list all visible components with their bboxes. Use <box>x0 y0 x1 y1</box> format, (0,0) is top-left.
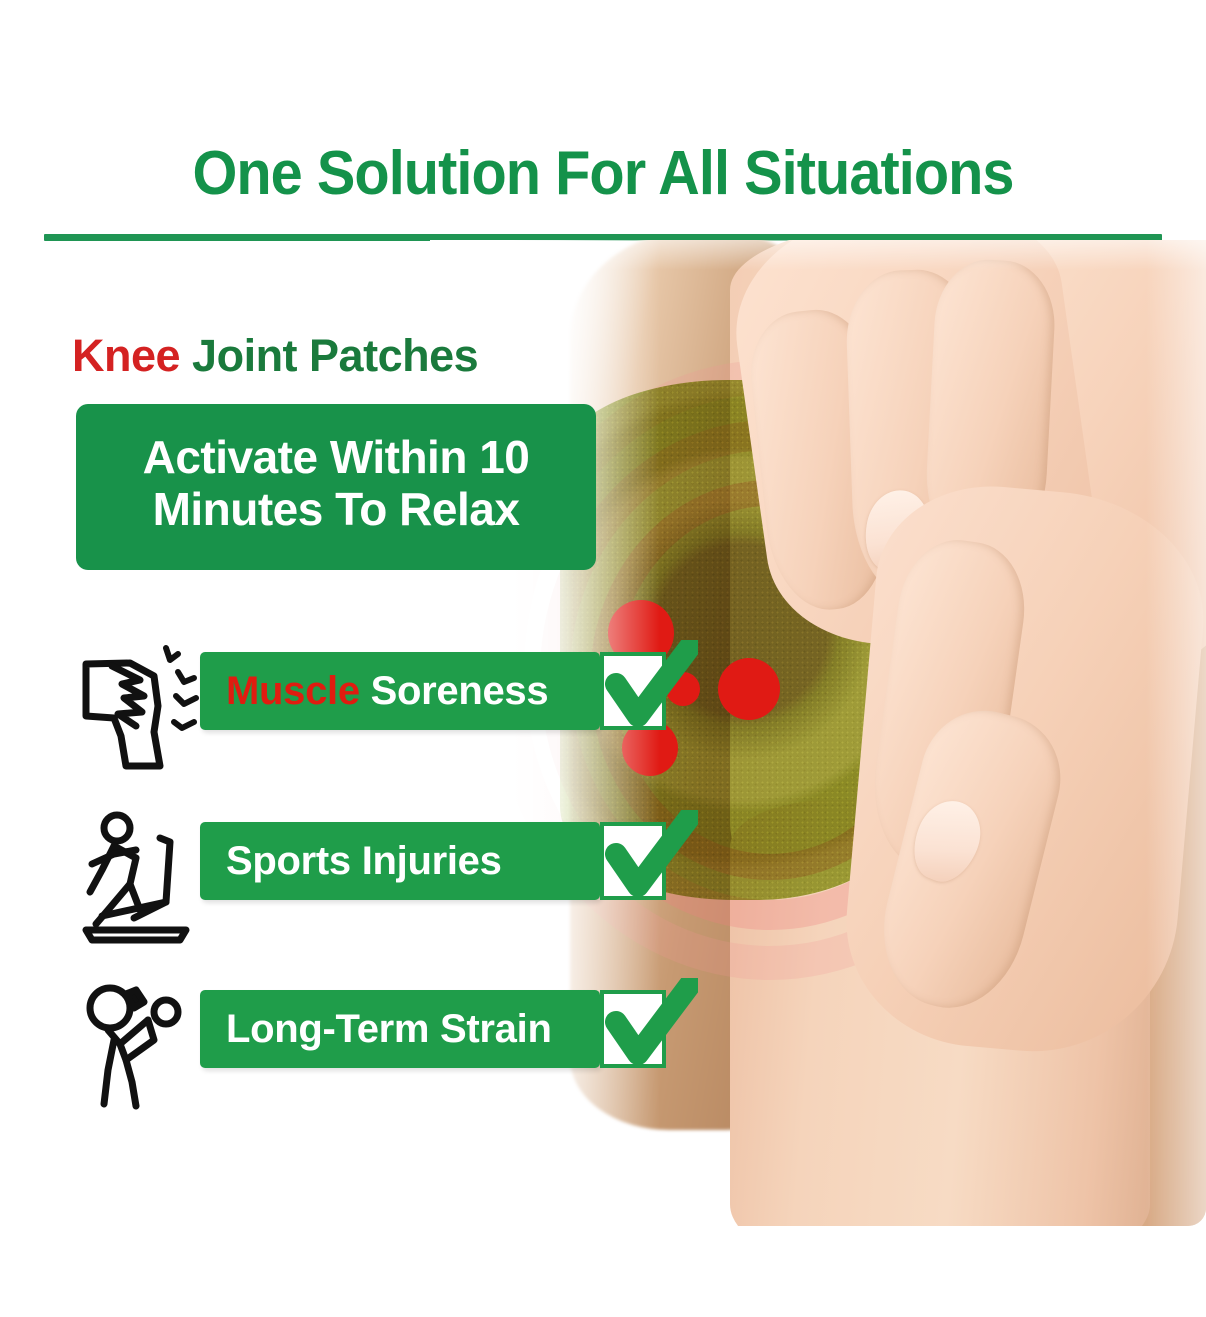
promo-banner: Activate Within 10 Minutes To Relax <box>76 404 596 570</box>
feature-checkbox[interactable] <box>600 986 686 1072</box>
knee-pain-icon <box>74 636 204 776</box>
feature-label-text: Soreness <box>360 669 549 713</box>
back-strain-icon <box>74 974 204 1114</box>
page-title: One Solution For All Situations <box>42 138 1164 209</box>
product-subtitle: Knee Joint Patches <box>72 330 478 382</box>
treadmill-runner-icon <box>74 806 204 946</box>
feature-label-text: Sports Injuries <box>226 839 502 883</box>
subtitle-rest: Joint Patches <box>180 330 478 381</box>
feature-label-highlight: Muscle <box>226 669 360 713</box>
feature-row: Sports Injuries <box>70 800 670 950</box>
feature-bar: Long-Term Strain <box>200 990 600 1068</box>
photo-fade-right <box>1146 240 1206 1226</box>
check-mark-icon <box>602 978 698 1074</box>
feature-label: Muscle Soreness <box>200 669 548 714</box>
feature-label-text: Long-Term Strain <box>226 1007 552 1051</box>
feature-label: Sports Injuries <box>200 839 502 884</box>
check-mark-icon <box>602 810 698 906</box>
feature-row: Long-Term Strain <box>70 968 670 1118</box>
pain-dot <box>718 658 780 720</box>
feature-label: Long-Term Strain <box>200 1007 552 1052</box>
feature-bar: Muscle Soreness <box>200 652 600 730</box>
promo-line-1: Activate Within 10 <box>143 432 530 484</box>
feature-checkbox[interactable] <box>600 648 686 734</box>
check-mark-icon <box>602 640 698 736</box>
feature-row: Muscle Soreness <box>70 630 670 780</box>
feature-bar: Sports Injuries <box>200 822 600 900</box>
promo-line-2: Minutes To Relax <box>153 484 520 536</box>
feature-checkbox[interactable] <box>600 818 686 904</box>
subtitle-highlight: Knee <box>72 330 180 381</box>
